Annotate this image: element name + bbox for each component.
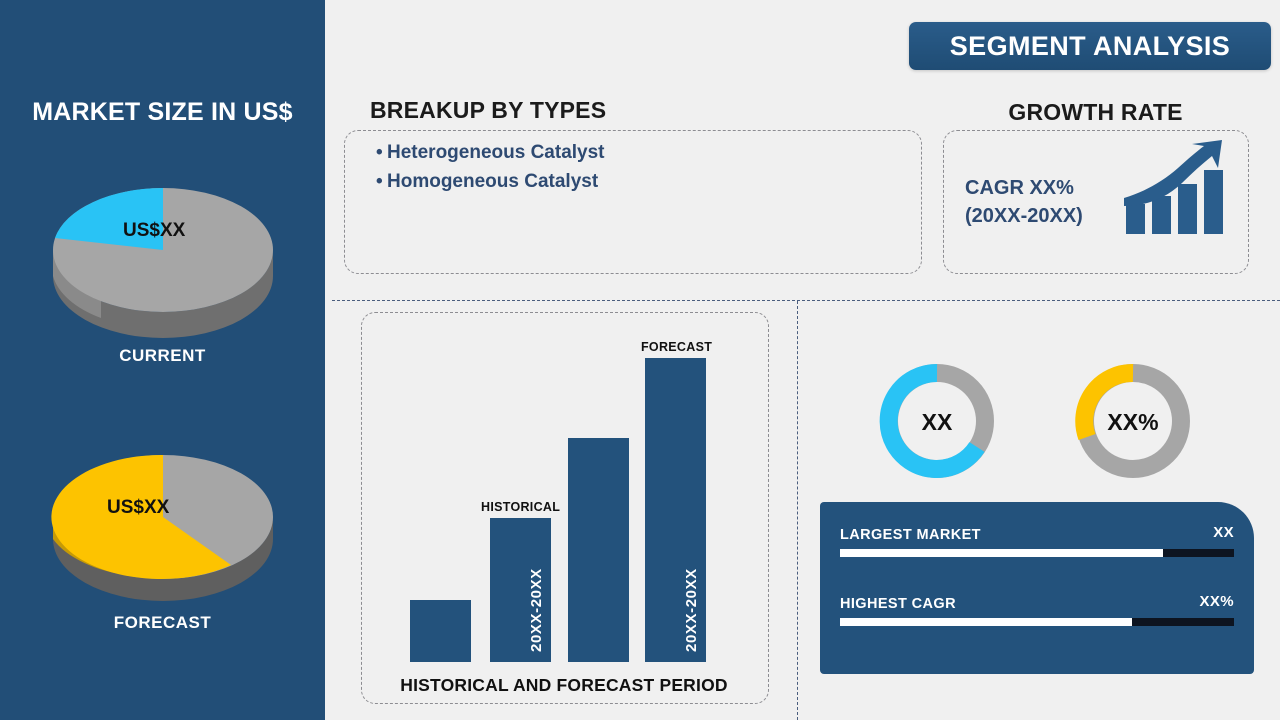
forecast-annotation: FORECAST: [641, 340, 712, 354]
cagr-line-2: (20XX-20XX): [965, 203, 1083, 231]
page-title: SEGMENT ANALYSIS: [909, 22, 1271, 70]
horizontal-divider: [332, 300, 1280, 301]
cagr-line-1: CAGR XX%: [965, 175, 1083, 203]
kpi-value: XX%: [1199, 593, 1234, 610]
growth-arrow-bars-icon: [1122, 140, 1226, 245]
kpi-panel: LARGEST MARKET XX HIGHEST CAGR XX%: [820, 502, 1254, 674]
cagr-text: CAGR XX% (20XX-20XX): [965, 175, 1083, 230]
kpi-label: LARGEST MARKET: [840, 527, 981, 543]
bar-chart-axis-label: HISTORICAL AND FORECAST PERIOD: [361, 675, 767, 696]
bar-3: [568, 438, 629, 662]
market-share-donut-label: XX%: [1107, 409, 1158, 435]
page-title-text: SEGMENT ANALYSIS: [950, 31, 1230, 62]
type-item-label: Heterogeneous Catalyst: [387, 142, 605, 163]
current-pie-svg: US$XX: [33, 158, 293, 338]
market-size-sidebar: MARKET SIZE IN US$ US$XX CURRENT: [0, 0, 325, 720]
bar-4-period-label: 20XX-20XX: [683, 568, 700, 652]
sidebar-title: MARKET SIZE IN US$: [0, 98, 325, 127]
market-share-donut: XX%: [1072, 360, 1194, 487]
bar-2: 20XX-20XX: [490, 518, 551, 662]
header-band: SEGMENT ANALYSIS imarc IMPACTFUL INSIGHT…: [325, 0, 1280, 92]
kpi-value: XX: [1213, 524, 1234, 541]
breakup-by-types-heading: BREAKUP BY TYPES: [370, 97, 606, 124]
forecast-pie-svg: US$XX: [33, 425, 293, 605]
market-value-donut-label: XX: [922, 409, 953, 435]
bullet-icon: •: [376, 168, 387, 197]
current-pie-value: US$XX: [123, 220, 186, 241]
bar-4: 20XX-20XX: [645, 358, 706, 662]
market-value-donut: XX: [876, 360, 998, 487]
growth-rate-heading: GROWTH RATE: [943, 99, 1248, 126]
bullet-icon: •: [376, 139, 387, 168]
kpi-progress-track: [840, 549, 1234, 557]
market-share-donut-svg: XX%: [1072, 360, 1194, 482]
historical-annotation: HISTORICAL: [481, 500, 560, 514]
forecast-pie-chart: US$XX FORECAST: [0, 425, 325, 633]
kpi-progress-fill: [840, 618, 1132, 626]
types-list: •Heterogeneous Catalyst •Homogeneous Cat…: [376, 139, 605, 197]
list-item: •Heterogeneous Catalyst: [376, 139, 605, 168]
historical-forecast-bar-chart: 20XX-20XX 20XX-20XX HISTORICAL FORECAST: [361, 312, 767, 702]
kpi-progress-fill: [840, 549, 1163, 557]
type-item-label: Homogeneous Catalyst: [387, 171, 598, 192]
vertical-divider: [797, 301, 798, 720]
current-pie-label: CURRENT: [0, 346, 325, 366]
market-value-donut-svg: XX: [876, 360, 998, 482]
bar-2-period-label: 20XX-20XX: [528, 568, 545, 652]
forecast-pie-value: US$XX: [107, 497, 170, 518]
kpi-label: HIGHEST CAGR: [840, 596, 956, 612]
bar-1: [410, 600, 471, 662]
kpi-progress-track: [840, 618, 1234, 626]
current-pie-chart: US$XX CURRENT: [0, 158, 325, 366]
list-item: •Homogeneous Catalyst: [376, 168, 605, 197]
infographic-canvas: MARKET SIZE IN US$ US$XX CURRENT: [0, 0, 1280, 720]
forecast-pie-label: FORECAST: [0, 613, 325, 633]
